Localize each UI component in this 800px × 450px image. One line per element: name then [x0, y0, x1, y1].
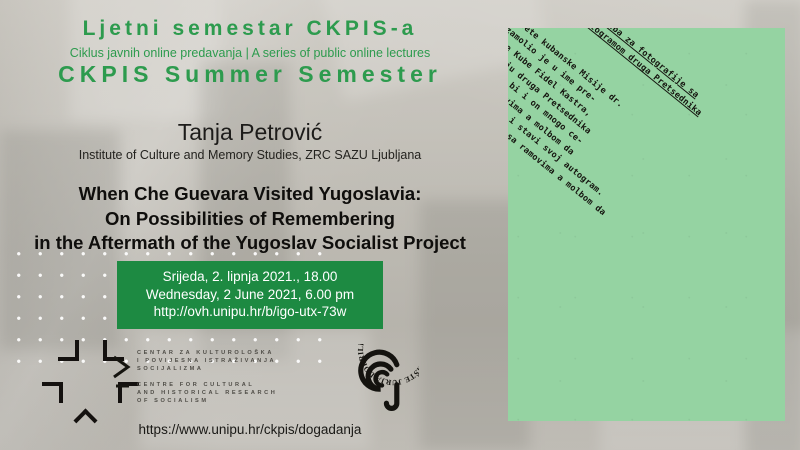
- university-seal-logo: SVEUČILIŠTE JURJA DOBRILE U PULI: [345, 344, 419, 418]
- centre-name-block: CENTAR ZA KULTUROLOŠKA I POVIJESNA ISTRA…: [137, 349, 277, 405]
- talk-title-line: in the Aftermath of the Yugoslav Sociali…: [0, 231, 500, 256]
- footer-url[interactable]: https://www.unipu.hr/ckpis/dogadanja: [0, 422, 500, 437]
- event-date-hr: Srijeda, 2. lipnja 2021., 18.00: [117, 268, 383, 286]
- centre-name-en-line: AND HISTORICAL RESEARCH: [137, 389, 277, 397]
- centre-name-en: CENTRE FOR CULTURAL AND HISTORICAL RESEA…: [137, 381, 277, 406]
- centre-name-hr-line: CENTAR ZA KULTUROLOŠKA: [137, 349, 277, 357]
- archival-document-panel: Molba za fotografije sa autogramom druga…: [508, 28, 785, 421]
- centre-name-en-line: OF SOCIALISM: [137, 397, 277, 405]
- event-join-link[interactable]: http://ovh.unipu.hr/b/igo-utx-73w: [117, 303, 383, 321]
- centre-name-hr-line: SOCIJALIZMA: [137, 365, 277, 373]
- event-poster: Ljetni semestar CKPIS-a Ciklus javnih on…: [0, 0, 800, 450]
- event-info-box: Srijeda, 2. lipnja 2021., 18.00 Wednesda…: [117, 261, 383, 329]
- centre-name-hr-line: I POVIJESNA ISTRAŽIVANJA: [137, 357, 277, 365]
- speaker-name: Tanja Petrović: [0, 119, 500, 146]
- centre-name-hr: CENTAR ZA KULTUROLOŠKA I POVIJESNA ISTRA…: [137, 349, 277, 374]
- speaker-affiliation: Institute of Culture and Memory Studies,…: [0, 148, 500, 162]
- event-date-en: Wednesday, 2 June 2021, 6.00 pm: [117, 286, 383, 304]
- angle-mark-decoration: [58, 340, 79, 361]
- document-typed-text: Molba za fotografije sa autogramom druga…: [508, 28, 785, 348]
- ckpis-logo-mark: [112, 355, 132, 389]
- talk-title: When Che Guevara Visited Yugoslavia: On …: [0, 182, 500, 256]
- header-title-en: CKPIS Summer Semester: [0, 61, 500, 88]
- angle-mark-decoration: [42, 382, 63, 403]
- talk-title-line: On Possibilities of Remembering: [0, 207, 500, 232]
- centre-name-en-line: CENTRE FOR CULTURAL: [137, 381, 277, 389]
- header-subtitle: Ciklus javnih online predavanja | A seri…: [0, 46, 500, 60]
- header-title-hr: Ljetni semestar CKPIS-a: [0, 17, 500, 41]
- talk-title-line: When Che Guevara Visited Yugoslavia:: [0, 182, 500, 207]
